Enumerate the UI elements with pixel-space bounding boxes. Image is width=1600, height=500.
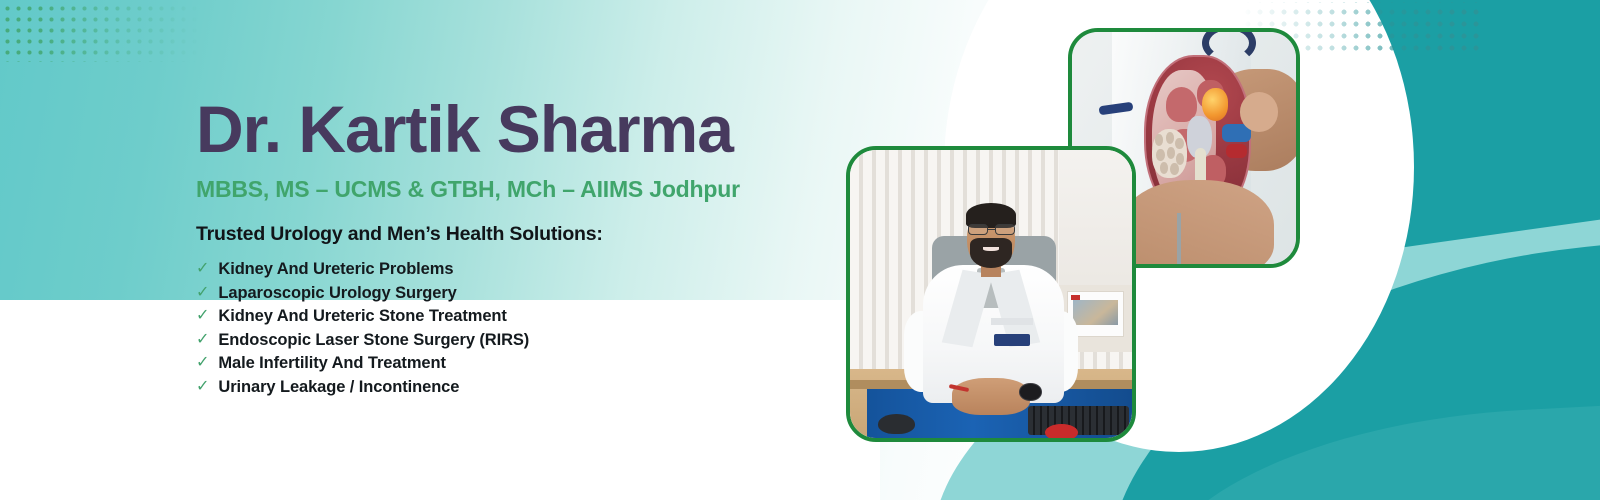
red-desk-object [1045,424,1079,438]
tagline-heading: Trusted Urology and Men’s Health Solutio… [196,223,836,246]
service-label: Laparoscopic Urology Surgery [218,284,456,303]
list-item: ✓ Male Infertility And Treatment [196,354,836,373]
computer-mouse [878,414,915,434]
computer-keyboard [1028,406,1130,435]
eyeglasses-icon [968,224,1015,236]
kidney-cysts [1152,129,1187,178]
page-title: Dr. Kartik Sharma [196,96,836,162]
check-icon: ✓ [196,332,209,348]
service-label: Kidney And Ureteric Stone Treatment [218,307,506,326]
service-label: Endoscopic Laser Stone Surgery (RIRS) [218,331,529,350]
hand-lower [1121,180,1273,264]
beard [970,238,1012,268]
clasped-hands [952,378,1031,415]
doctor-qualifications: MBBS, MS – UCMS & GTBH, MCh – AIIMS Jodh… [196,176,836,203]
check-icon: ✓ [196,308,209,324]
check-icon: ✓ [196,285,209,301]
list-item: ✓ Kidney And Ureteric Stone Treatment [196,307,836,326]
doctor-photo-inner [850,150,1132,438]
service-label: Urinary Leakage / Incontinence [218,378,459,397]
kidney-stone [1202,88,1229,121]
list-item: ✓ Urinary Leakage / Incontinence [196,378,836,397]
check-icon: ✓ [196,261,209,277]
check-icon: ✓ [196,355,209,371]
wristwatch [1019,383,1042,400]
hospital-logo-badge [994,334,1031,346]
check-icon: ✓ [196,379,209,395]
coat-name-embroidery [991,318,1033,325]
green-halftone-dots-icon [0,0,200,62]
list-item: ✓ Kidney And Ureteric Problems [196,260,836,279]
service-label: Male Infertility And Treatment [218,354,445,373]
model-stand [1177,213,1181,264]
service-label: Kidney And Ureteric Problems [218,260,453,279]
renal-artery [1226,144,1247,159]
list-item: ✓ Endoscopic Laser Stone Surgery (RIRS) [196,331,836,350]
services-list: ✓ Kidney And Ureteric Problems ✓ Laparos… [196,260,836,397]
doctor-portrait-photo-card [846,146,1136,442]
list-item: ✓ Laparoscopic Urology Surgery [196,284,836,303]
thumb [1240,92,1278,131]
doctor-profile-hero-banner: Dr. Kartik Sharma MBBS, MS – UCMS & GTBH… [0,0,1600,500]
hero-text-column: Dr. Kartik Sharma MBBS, MS – UCMS & GTBH… [196,96,836,401]
